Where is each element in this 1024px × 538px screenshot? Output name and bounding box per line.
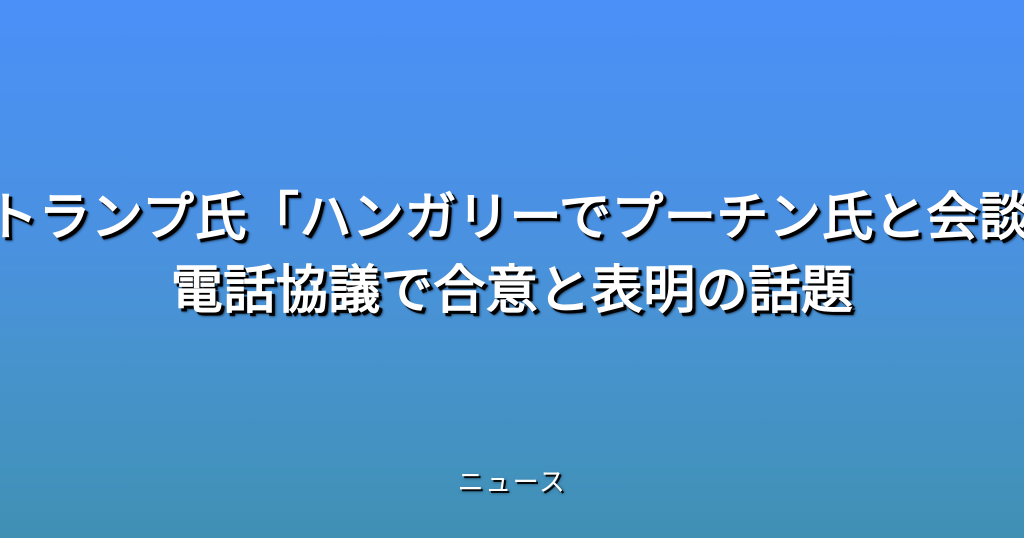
news-share-card: トランプ氏「ハンガリーでプーチン氏と会談」 電話協議で合意と表明の話題 ニュース xyxy=(0,0,1024,538)
headline-line-2: 電話協議で合意と表明の話題 xyxy=(0,255,1024,328)
headline-line-1: トランプ氏「ハンガリーでプーチン氏と会談」 xyxy=(0,182,1024,255)
category-label: ニュース xyxy=(458,466,567,500)
category-area: ニュース xyxy=(0,466,1024,500)
headline: トランプ氏「ハンガリーでプーチン氏と会談」 電話協議で合意と表明の話題 xyxy=(0,182,1024,328)
